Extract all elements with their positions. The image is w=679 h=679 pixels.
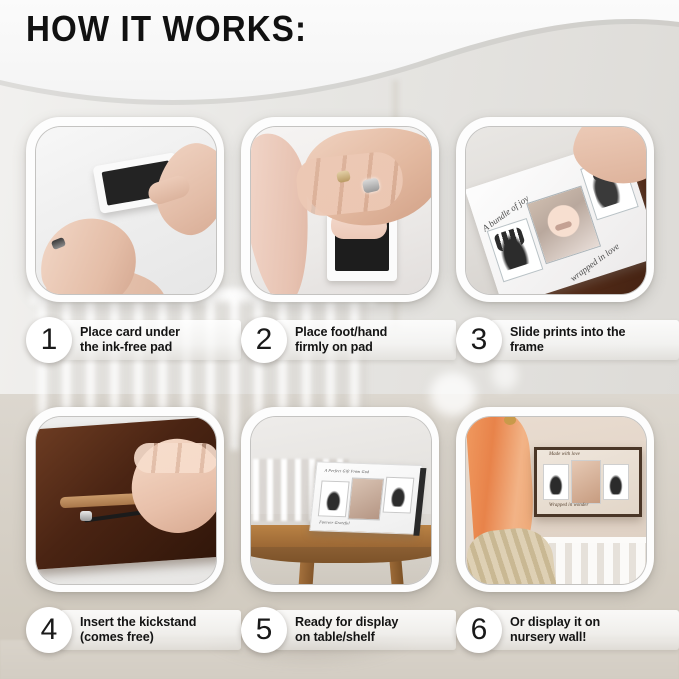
caption-line-1: Ready for display: [295, 615, 398, 629]
caption-line-2: on table/shelf: [295, 630, 375, 644]
step-number-badge: 1: [26, 317, 72, 363]
caption-line-2: the ink-free pad: [80, 340, 172, 354]
footprint-slot: [383, 477, 415, 514]
how-it-works-infographic: HOW IT WORKS:: [0, 0, 679, 679]
frame-script-top: Made with love: [549, 452, 580, 457]
caption-text: Ready for display on table/shelf: [295, 615, 398, 646]
handprint-icon: [324, 489, 342, 511]
caption-text: Place foot/hand firmly on pad: [295, 325, 387, 356]
step-tile-3: A bundle of joy wrapped in love: [456, 117, 654, 302]
caption-bar: Insert the kickstand (comes free): [60, 610, 241, 650]
caption-step-3: 3 Slide prints into the frame: [456, 316, 679, 364]
caption-text: Slide prints into the frame: [510, 325, 625, 356]
photo-press-foot-on-pad: [251, 127, 431, 294]
baby-photo-slot: [571, 460, 601, 504]
caption-bar: Place foot/hand firmly on pad: [275, 320, 456, 360]
step-number-badge: 4: [26, 607, 72, 653]
step-number-badge: 5: [241, 607, 287, 653]
photo-slide-prints-into-frame: A bundle of joy wrapped in love: [466, 127, 646, 294]
step-tile-5: A Perfect Gift From God Forever Grateful: [241, 407, 439, 592]
footprint-icon: [608, 473, 623, 494]
frame-script-bottom: Forever Grateful: [319, 519, 350, 525]
caption-text: Or display it on nursery wall!: [510, 615, 600, 646]
photo-frame-2: [241, 117, 439, 302]
photo-inner-6: Made with love Wrapped in wonder: [465, 416, 647, 585]
caption-line-1: Or display it on: [510, 615, 600, 629]
caption-line-1: Place card under: [80, 325, 180, 339]
photo-inner-3: A bundle of joy wrapped in love: [465, 126, 647, 295]
caption-step-2: 2 Place foot/hand firmly on pad: [241, 316, 456, 364]
caption-text: Place card under the ink-free pad: [80, 325, 180, 356]
photo-frame-on-wall: Made with love Wrapped in wonder: [466, 417, 646, 584]
footprint-icon: [389, 486, 407, 508]
crib-slats: [540, 543, 646, 584]
photo-inner-1: [35, 126, 217, 295]
photo-insert-kickstand: [36, 417, 216, 584]
caption-line-2: firmly on pad: [295, 340, 373, 354]
step-number-badge: 3: [456, 317, 502, 363]
frame-script-top: A Perfect Gift From God: [324, 468, 369, 475]
step-number-badge: 6: [456, 607, 502, 653]
photo-inner-2: [250, 126, 432, 295]
caption-line-1: Place foot/hand: [295, 325, 387, 339]
caption-line-1: Insert the kickstand: [80, 615, 196, 629]
caption-step-4: 4 Insert the kickstand (comes free): [26, 606, 241, 654]
photo-frame-4: [26, 407, 224, 592]
caption-bar: Ready for display on table/shelf: [275, 610, 456, 650]
wall-keepsake-frame: Made with love Wrapped in wonder: [534, 447, 642, 517]
step-tile-1: [26, 117, 224, 302]
caption-bar: Slide prints into the frame: [490, 320, 679, 360]
keepsake-frame: A Perfect Gift From God Forever Grateful: [309, 461, 423, 534]
handprint-slot: [318, 480, 350, 517]
kickstand-knob: [80, 511, 92, 521]
caption-line-2: (comes free): [80, 630, 154, 644]
photo-frame-1: [26, 117, 224, 302]
caption-bar: Or display it on nursery wall!: [490, 610, 679, 650]
caption-step-1: 1 Place card under the ink-free pad: [26, 316, 241, 364]
caption-text: Insert the kickstand (comes free): [80, 615, 196, 646]
photo-frame-6: Made with love Wrapped in wonder: [456, 407, 654, 592]
step-tile-4: [26, 407, 224, 592]
baby-photo-slot: [348, 478, 384, 521]
photo-frame-5: A Perfect Gift From God Forever Grateful: [241, 407, 439, 592]
caption-line-2: frame: [510, 340, 544, 354]
knuckles-shape: [134, 443, 216, 473]
step-tile-6: Made with love Wrapped in wonder: [456, 407, 654, 592]
caption-line-2: nursery wall!: [510, 630, 586, 644]
photo-inner-4: [35, 416, 217, 585]
photo-inner-5: A Perfect Gift From God Forever Grateful: [250, 416, 432, 585]
photo-frame-on-table: A Perfect Gift From God Forever Grateful: [251, 417, 431, 584]
left-hand-shape: [36, 213, 142, 294]
caption-line-1: Slide prints into the: [510, 325, 625, 339]
caption-step-5: 5 Ready for display on table/shelf: [241, 606, 456, 654]
handprint-icon: [548, 473, 563, 494]
frame-script-bottom: Wrapped in wonder: [549, 503, 588, 508]
handprint-slot: [543, 464, 569, 500]
footprint-slot: [603, 464, 629, 500]
caption-bar: Place card under the ink-free pad: [60, 320, 241, 360]
step-tile-2: [241, 117, 439, 302]
caption-step-6: 6 Or display it on nursery wall!: [456, 606, 679, 654]
photo-frame-3: A bundle of joy wrapped in love: [456, 117, 654, 302]
step-number-badge: 2: [241, 317, 287, 363]
photo-place-card-under-pad: [36, 127, 216, 294]
